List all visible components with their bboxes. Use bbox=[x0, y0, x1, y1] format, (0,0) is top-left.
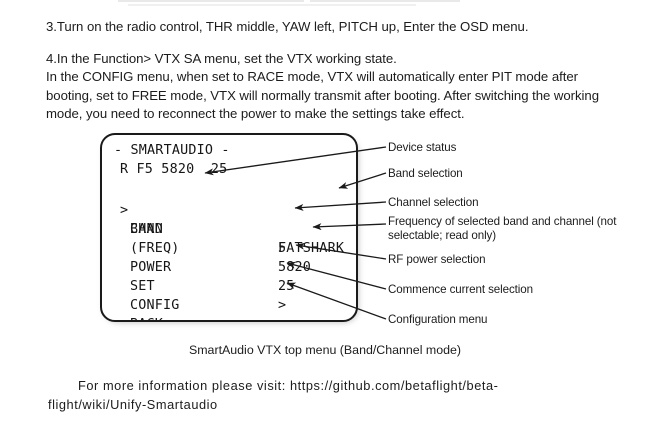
annotation-frequency-note: Frequency of selected band and channel (… bbox=[388, 215, 618, 243]
scan-artifact-line bbox=[118, 0, 304, 2]
annotation-device-status: Device status bbox=[388, 141, 456, 155]
footer-line-1: For more information please visit: https… bbox=[48, 376, 638, 395]
osd-row-submenu-icon: > bbox=[278, 316, 286, 322]
instruction-config-note: In the CONFIG menu, when set to RACE mod… bbox=[46, 68, 624, 124]
osd-device-status-line: R F5 5820 25 bbox=[102, 161, 358, 180]
annotation-configuration-menu: Configuration menu bbox=[388, 313, 487, 327]
annotation-band-selection: Band selection bbox=[388, 167, 463, 181]
annotation-rf-power: RF power selection bbox=[388, 253, 485, 267]
annotation-commence-selection: Commence current selection bbox=[388, 283, 533, 297]
osd-row-chan[interactable]: CHAN 5 bbox=[102, 202, 356, 221]
instruction-step-3: 3.Turn on the radio control, THR middle,… bbox=[46, 18, 626, 37]
scan-artifact-line bbox=[310, 0, 460, 2]
osd-row-label: BACK bbox=[130, 316, 163, 322]
osd-row-band[interactable]: > BAND FATSHARK bbox=[102, 183, 356, 202]
footer-line-2: flight/wiki/Unify-Smartaudio bbox=[48, 395, 638, 414]
annotation-channel-selection: Channel selection bbox=[388, 196, 478, 210]
osd-row-config[interactable]: CONFIG > bbox=[102, 278, 356, 297]
osd-row-power[interactable]: POWER 25 bbox=[102, 240, 356, 259]
osd-menu-panel: - SMARTAUDIO - R F5 5820 25 > BAND FATSH… bbox=[100, 133, 358, 322]
footer-note: For more information please visit: https… bbox=[48, 376, 638, 414]
instruction-step-4: 4.In the Function> VTX SA menu, set the … bbox=[46, 50, 626, 69]
osd-title: - SMARTAUDIO - bbox=[102, 142, 358, 161]
osd-row-set[interactable]: SET > bbox=[102, 259, 356, 278]
scan-artifact-line bbox=[128, 4, 416, 6]
osd-row-back[interactable]: BACK bbox=[102, 297, 356, 316]
figure-caption: SmartAudio VTX top menu (Band/Channel mo… bbox=[0, 343, 650, 357]
osd-row-freq: (FREQ) 5820 bbox=[102, 221, 356, 240]
